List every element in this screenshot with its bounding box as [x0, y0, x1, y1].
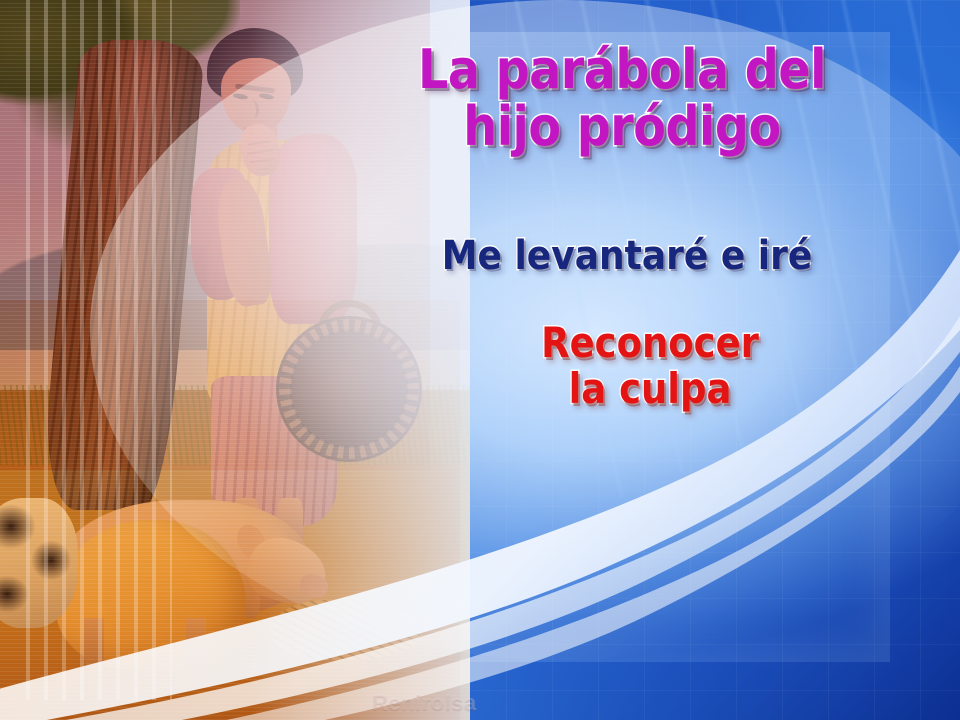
callout-line-2: la culpa: [483, 368, 817, 411]
presentation-slide: La parábola del hijo pródigo Me levantar…: [0, 0, 960, 720]
slide-title: La parábola del hijo pródigo: [402, 42, 842, 154]
prodigal-son-illustration: [0, 0, 470, 720]
callout-line-1: Reconocer: [541, 318, 759, 367]
title-line-1: La parábola del: [418, 38, 826, 101]
slide-callout: Reconocer la culpa: [483, 322, 817, 411]
slide-subtitle: Me levantaré e iré: [416, 236, 839, 277]
watermark-text: Renirolsa: [372, 690, 477, 716]
title-line-2: hijo pródigo: [402, 99, 842, 154]
